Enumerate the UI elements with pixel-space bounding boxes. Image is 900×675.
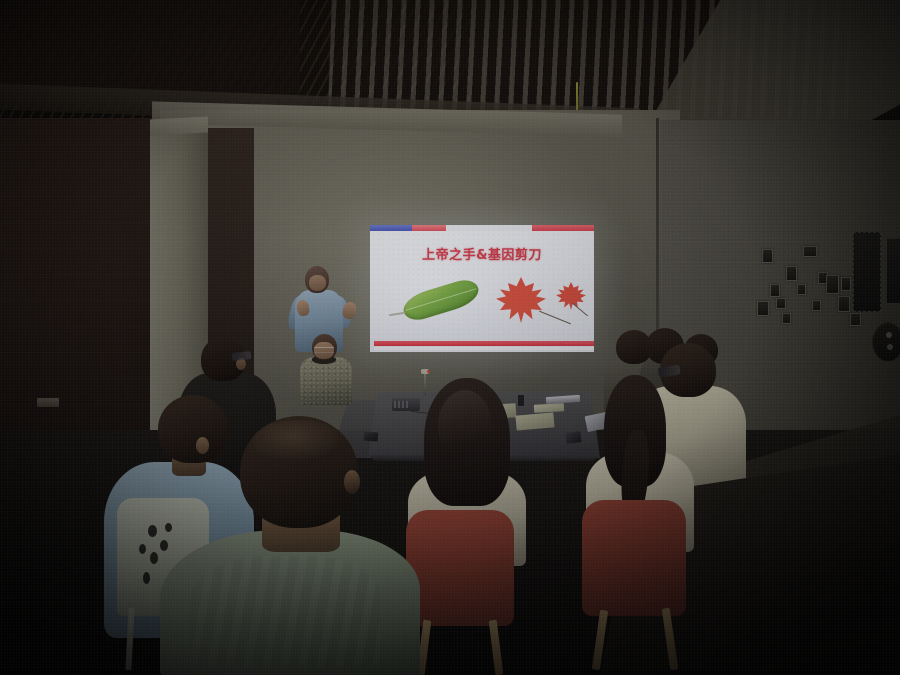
slide-title: 上帝之手&基因剪刀 (370, 244, 594, 263)
person6-hair-highlight (438, 390, 492, 462)
person2-jacket-pattern (300, 357, 352, 405)
pillar-capital (150, 116, 208, 135)
chair-perforation (160, 540, 168, 551)
picture-frame (803, 246, 817, 257)
picture-frame (797, 284, 806, 295)
person4-ear (196, 437, 209, 454)
red-maple-large-stem (539, 311, 571, 325)
slide-footer-text: ····· ··· ·· ··· ··· (565, 341, 590, 346)
rust-upholstered-chair-center[interactable] (406, 510, 514, 626)
microphone-stand (424, 372, 426, 396)
chair-perforation (143, 572, 150, 584)
picture-frame (812, 300, 821, 311)
chair-perforation (165, 523, 172, 532)
red-maple-small-stem (572, 303, 588, 317)
projection-screen[interactable]: 上帝之手&基因剪刀 ····· ··· ·· ··· ··· (370, 225, 594, 352)
person5-hair-highlight (252, 420, 344, 462)
wall-outlet-plate[interactable] (37, 398, 59, 407)
person4-head (158, 395, 228, 463)
presenter-face (309, 275, 326, 291)
person2-glasses-icon (314, 347, 334, 353)
wall-dark-panel-edge (886, 238, 900, 304)
smartphone[interactable] (364, 432, 379, 442)
picture-frame (776, 298, 786, 309)
wall-dark-panel (853, 232, 881, 312)
slide-footer-underline (374, 347, 594, 350)
picture-frame (757, 301, 769, 316)
picture-frame (838, 296, 850, 312)
microphone-led-indicator (427, 370, 430, 373)
chair-perforation (150, 552, 158, 564)
picture-frame (770, 284, 780, 297)
picture-frame (841, 277, 851, 291)
person5-shirt-folds (190, 556, 380, 666)
photo-scene: 上帝之手&基因剪刀 ····· ··· ·· ··· ··· (0, 0, 900, 675)
wall-clock-detail-2 (887, 344, 893, 350)
red-maple-leaf-large-icon (496, 277, 546, 323)
slide-body: 上帝之手&基因剪刀 (370, 231, 594, 340)
wall-clock-detail (886, 332, 892, 338)
red-maple-leaf-small-icon (556, 282, 586, 310)
conference-phone-keypad[interactable] (394, 401, 408, 408)
smartphone[interactable] (565, 431, 581, 444)
slide-artwork (380, 273, 584, 335)
chair-perforation (148, 525, 157, 537)
wall-clock-icon (872, 322, 900, 362)
picture-frame (782, 313, 791, 324)
person5-ear (344, 470, 360, 494)
picture-frame (826, 275, 839, 294)
slide-footer-bar (374, 341, 594, 346)
chair-perforation (139, 544, 146, 554)
rust-upholstered-chair-right[interactable] (582, 500, 686, 616)
picture-frame (762, 249, 773, 263)
notebook[interactable] (534, 403, 564, 413)
green-leaf-stem (389, 312, 405, 316)
smartphone[interactable] (518, 395, 524, 406)
picture-frame (850, 313, 861, 326)
picture-frame (786, 266, 797, 281)
